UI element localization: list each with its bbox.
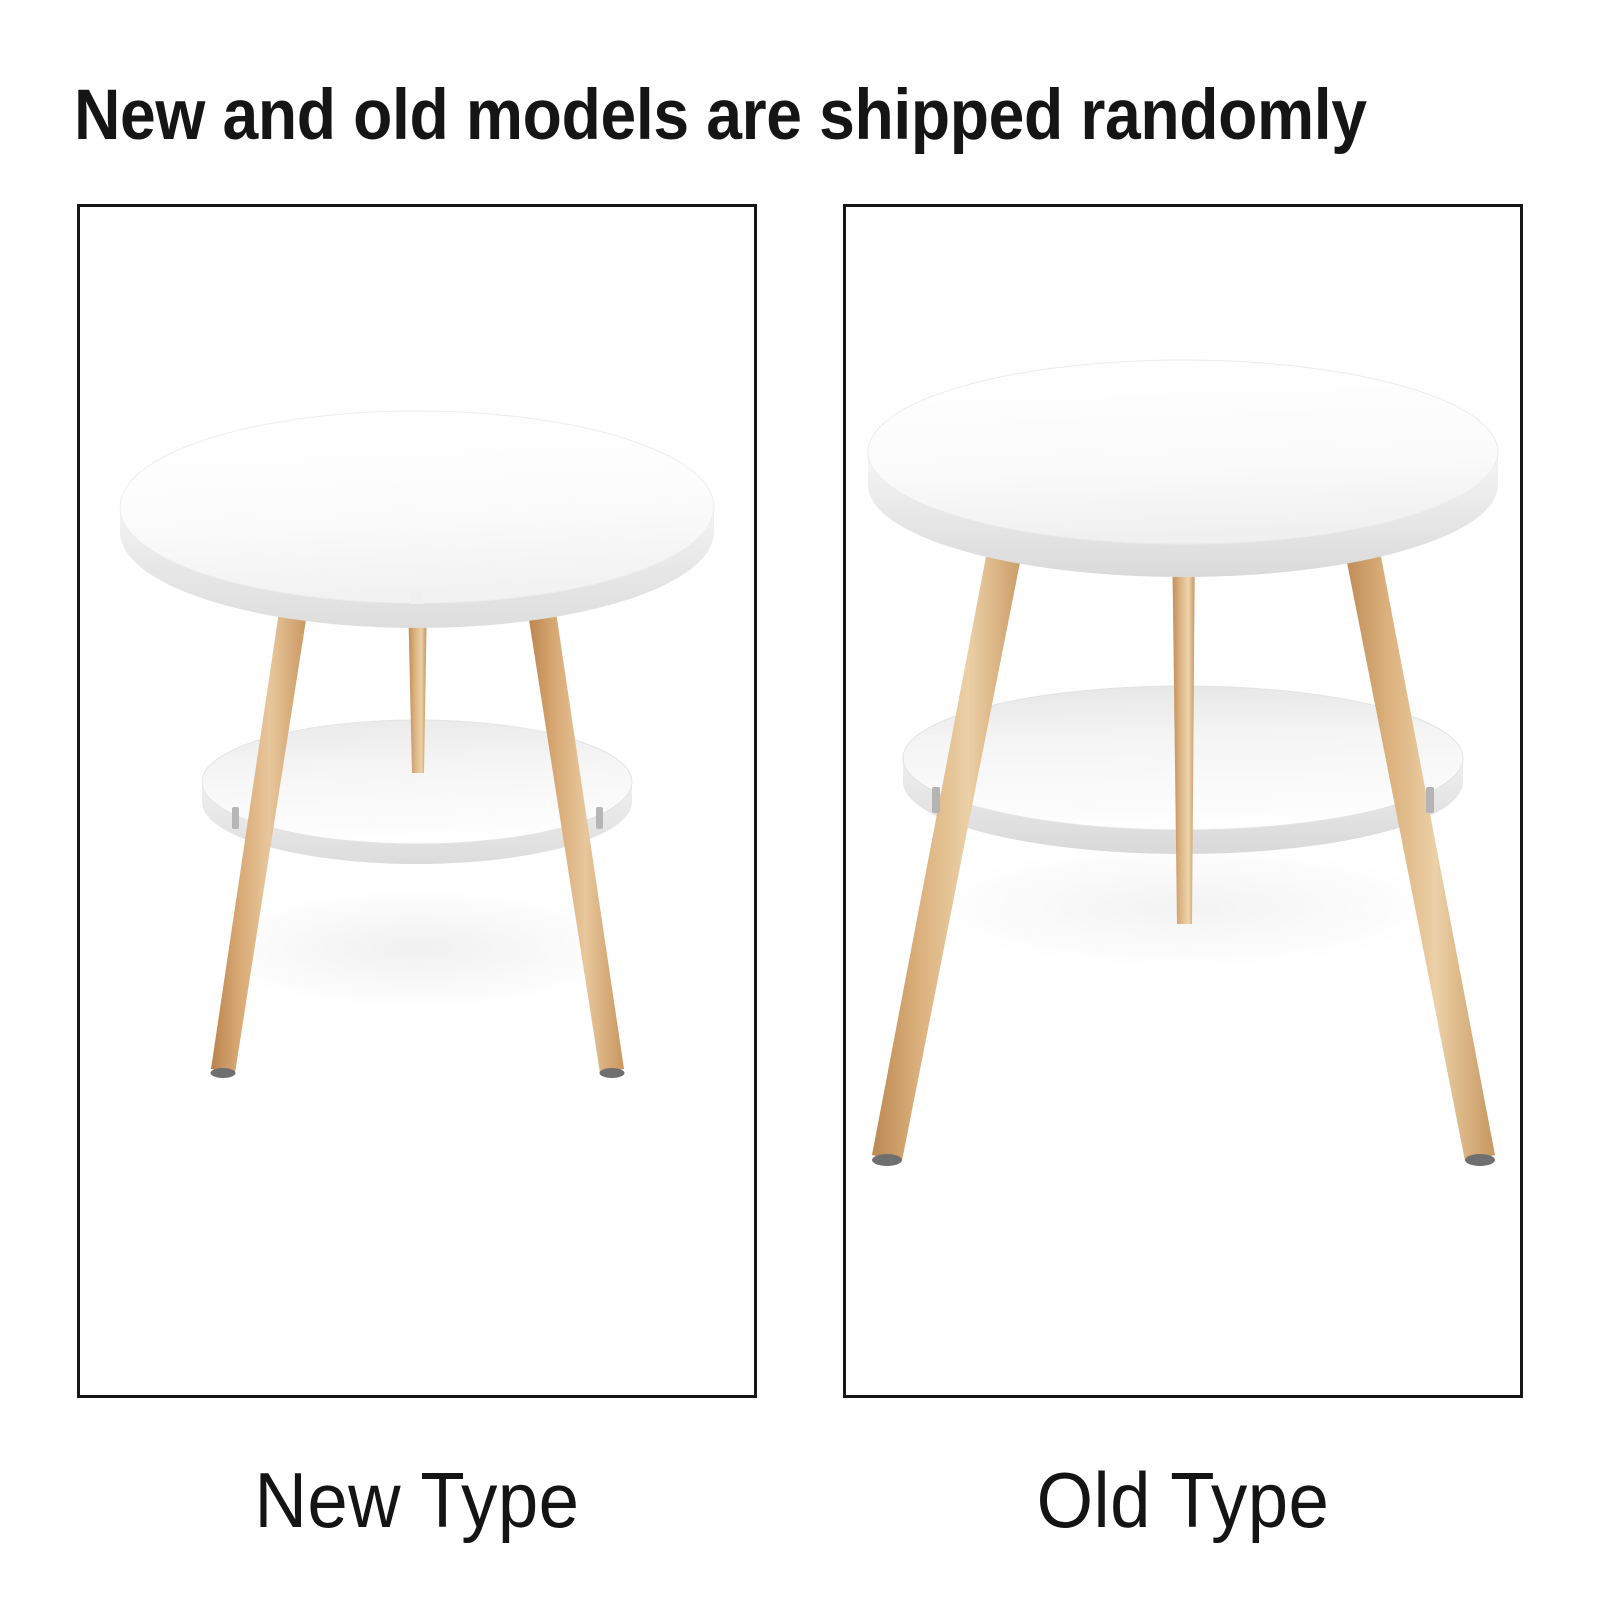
product-image-panel-new xyxy=(77,204,757,1398)
shelf-bracket-left xyxy=(932,787,940,813)
foot-cap-left xyxy=(211,1068,236,1078)
shelf-bracket-right xyxy=(1426,787,1434,813)
product-image-panel-old xyxy=(843,204,1523,1398)
caption-new-type: New Type xyxy=(101,1452,733,1548)
foot-cap-right xyxy=(1465,1154,1495,1166)
new-type-table-illustration xyxy=(80,207,754,1395)
shelf-bracket-left xyxy=(232,807,239,829)
caption-old-type: Old Type xyxy=(867,1452,1499,1548)
foot-cap-left xyxy=(872,1154,902,1166)
foot-cap-right xyxy=(600,1068,625,1078)
old-type-table-illustration xyxy=(846,207,1520,1395)
table-top-old xyxy=(868,360,1498,577)
shelf-bracket-right xyxy=(596,807,603,829)
table-top-new xyxy=(120,411,714,628)
page-title: New and old models are shipped randomly xyxy=(74,76,1388,156)
